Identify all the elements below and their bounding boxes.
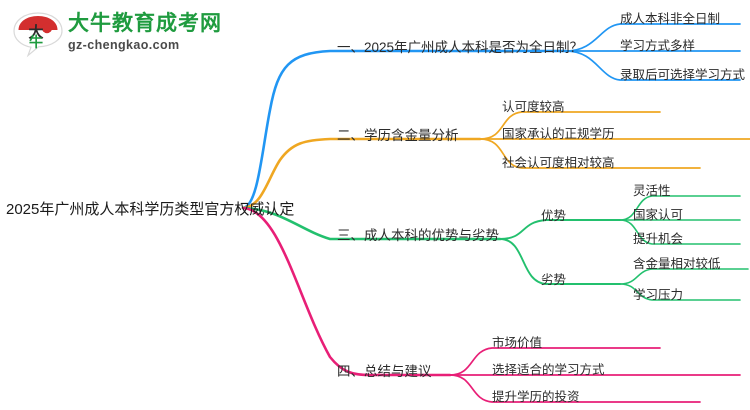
- leaf-node-1-3[interactable]: 录取后可选择学习方式: [620, 64, 745, 83]
- leaf-node-3-1-3[interactable]: 提升机会: [633, 228, 683, 247]
- leaf-node-1-1[interactable]: 成人本科非全日制: [620, 8, 720, 27]
- branch-2-wires: [243, 112, 750, 208]
- branch-node-1[interactable]: 一、2025年广州成人本科是否为全日制？: [337, 36, 583, 56]
- leaf-node-2-2[interactable]: 国家承认的正规学历: [502, 123, 615, 142]
- mindmap-root-node[interactable]: 2025年广州成人本科学历类型官方权威认定: [6, 198, 294, 219]
- group-node-3-advantages[interactable]: 优势: [541, 205, 566, 224]
- leaf-node-4-1[interactable]: 市场价值: [492, 332, 542, 351]
- leaf-node-2-3[interactable]: 社会认可度相对较高: [502, 152, 615, 171]
- mindmap-canvas: 大 牛 大牛教育成考网 gz-chengkao.com: [0, 0, 750, 410]
- leaf-node-1-2[interactable]: 学习方式多样: [620, 35, 695, 54]
- branch-node-3[interactable]: 三、成人本科的优势与劣势: [337, 224, 499, 244]
- group-node-3-disadvantages[interactable]: 劣势: [541, 269, 566, 288]
- leaf-node-2-1[interactable]: 认可度较高: [502, 96, 565, 115]
- branch-node-4[interactable]: 四、总结与建议: [337, 360, 432, 380]
- branch-node-2[interactable]: 二、学历含金量分析: [337, 124, 459, 144]
- leaf-node-3-2-2[interactable]: 学习压力: [633, 284, 683, 303]
- leaf-node-4-2[interactable]: 选择适合的学习方式: [492, 359, 605, 378]
- leaf-node-3-2-1[interactable]: 含金量相对较低: [633, 253, 721, 272]
- leaf-node-3-1-1[interactable]: 灵活性: [633, 180, 671, 199]
- leaf-node-3-1-2[interactable]: 国家认可: [633, 204, 683, 223]
- leaf-node-4-3[interactable]: 提升学历的投资: [492, 386, 580, 405]
